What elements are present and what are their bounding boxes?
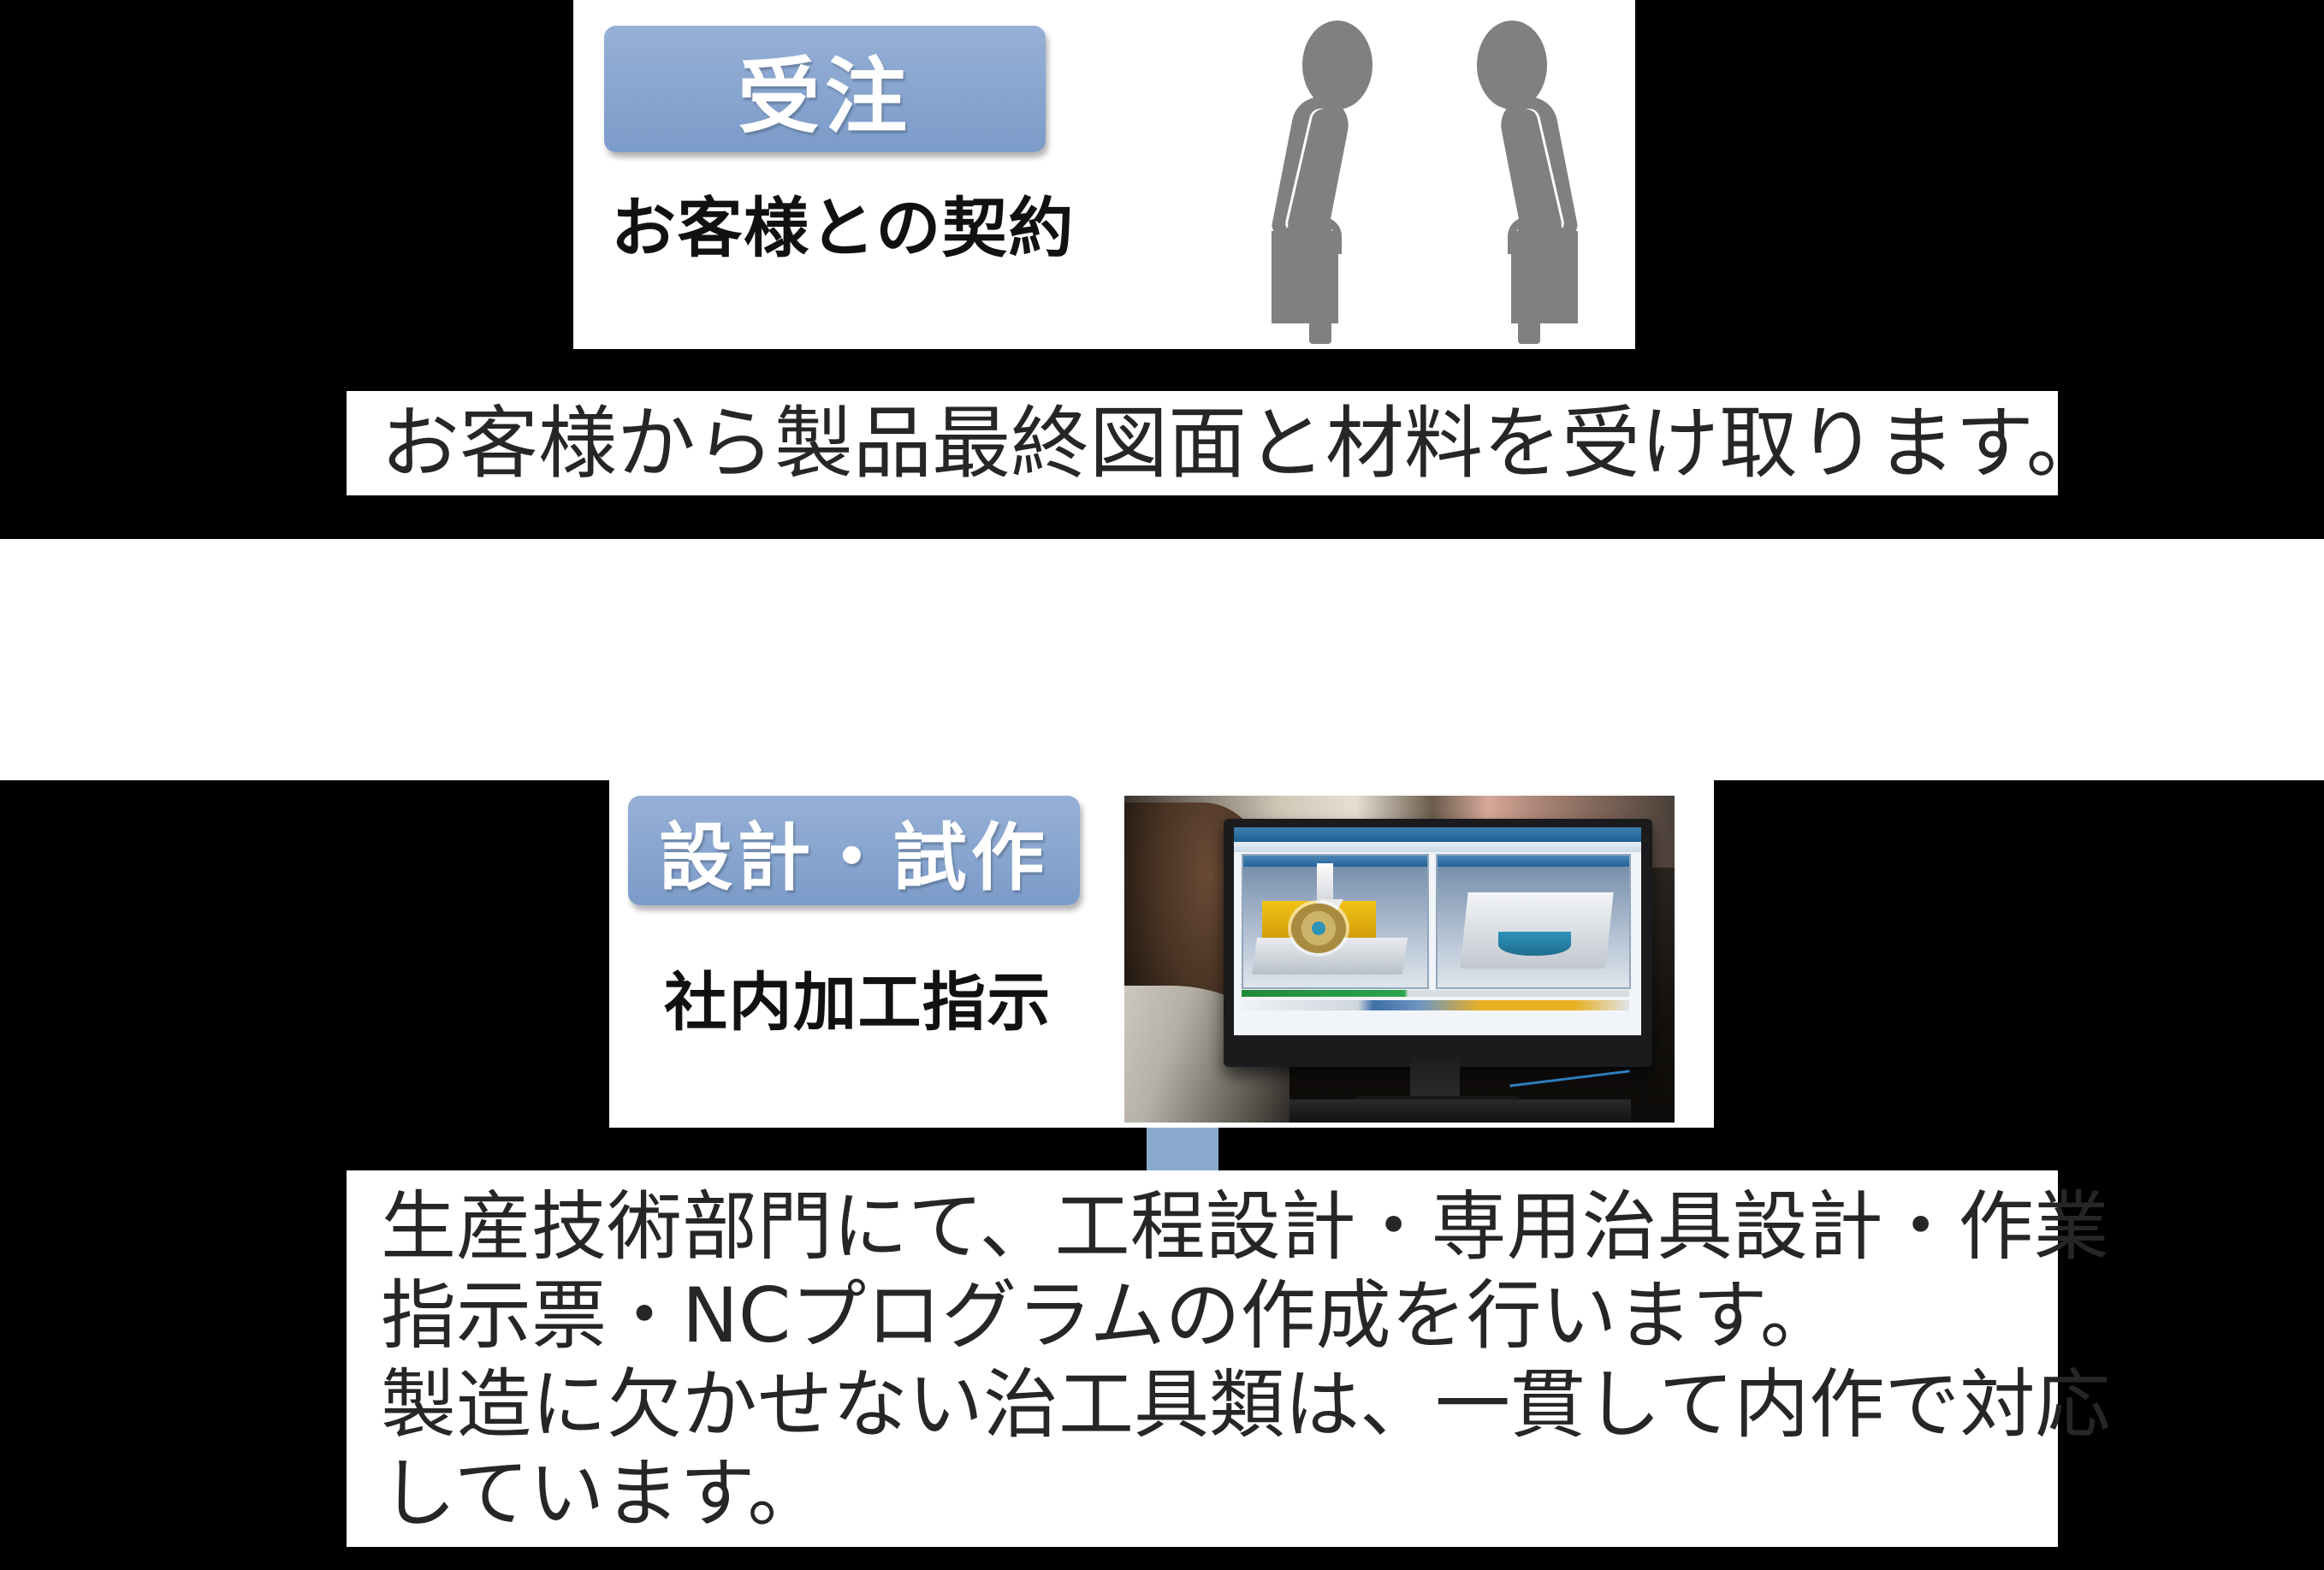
photo-monitor-stand-neck — [1410, 1058, 1460, 1100]
person-head-shape — [1302, 21, 1372, 110]
step-card-body: 受注 お客様との契約 — [573, 0, 1635, 349]
step-sublabel-receive-order: お客様との契約 — [611, 175, 1075, 270]
photo-cutting-tool-holder — [1317, 863, 1333, 903]
photo-keyboard — [1289, 1099, 1631, 1123]
photo-viewport-right — [1436, 854, 1631, 989]
caption-line: 製造に欠かせない治工具類は、一貫して内作で対応 — [381, 1360, 2058, 1449]
photo-progress-bar — [1242, 990, 1629, 997]
photo-timeline-bar — [1242, 1000, 1629, 1010]
person-head-shape — [1477, 21, 1547, 110]
caption-line: しています。 — [381, 1449, 2058, 1538]
caption-line: お客様から製品最終図面と材料を受け取ります。 — [381, 396, 2058, 492]
step-caption-design-prototype: 生産技術部門にて、工程設計・専用治具設計・作業 指示票・NCプログラムの作成を行… — [347, 1170, 2058, 1547]
photo-app-titlebar — [1234, 827, 1641, 842]
photo-impeller-model — [1291, 903, 1346, 953]
cad-cam-workstation-photo — [1124, 796, 1675, 1123]
photo-viewport-header — [1438, 856, 1629, 866]
photo-viewport-left — [1242, 854, 1428, 989]
two-bowing-businesspeople-icon — [1258, 15, 1626, 341]
step-card-body: 設計・試作 社内加工指示 — [609, 780, 1714, 1128]
person-leg-shape — [1309, 219, 1331, 344]
flow-diagram-stage: 受注 お客様との契約 — [0, 0, 2324, 1570]
step-caption-receive-order: お客様から製品最終図面と材料を受け取ります。 — [347, 391, 2058, 495]
photo-impeller-model-detail — [1491, 887, 1579, 956]
step-sublabel-design-prototype: 社内加工指示 — [664, 951, 1052, 1043]
step-badge-design-prototype: 設計・試作 — [628, 796, 1080, 905]
caption-line: 生産技術部門にて、工程設計・専用治具設計・作業 — [381, 1182, 2058, 1271]
connector-band — [0, 539, 2324, 780]
photo-viewport-header — [1243, 856, 1426, 866]
person-leg-shape — [1518, 219, 1540, 344]
person-left-icon — [1258, 15, 1429, 341]
photo-app-toolbar — [1234, 842, 1641, 852]
person-right-icon — [1420, 15, 1592, 341]
caption-line: 指示票・NCプログラムの作成を行います。 — [381, 1271, 2058, 1360]
photo-monitor-screen — [1234, 827, 1641, 1036]
step-card-design-prototype: 設計・試作 社内加工指示 — [609, 780, 1714, 1128]
step-card-receive-order: 受注 お客様との契約 — [573, 0, 1635, 349]
step-badge-receive-order: 受注 — [604, 26, 1046, 152]
photo-monitor-bezel — [1224, 819, 1653, 1067]
